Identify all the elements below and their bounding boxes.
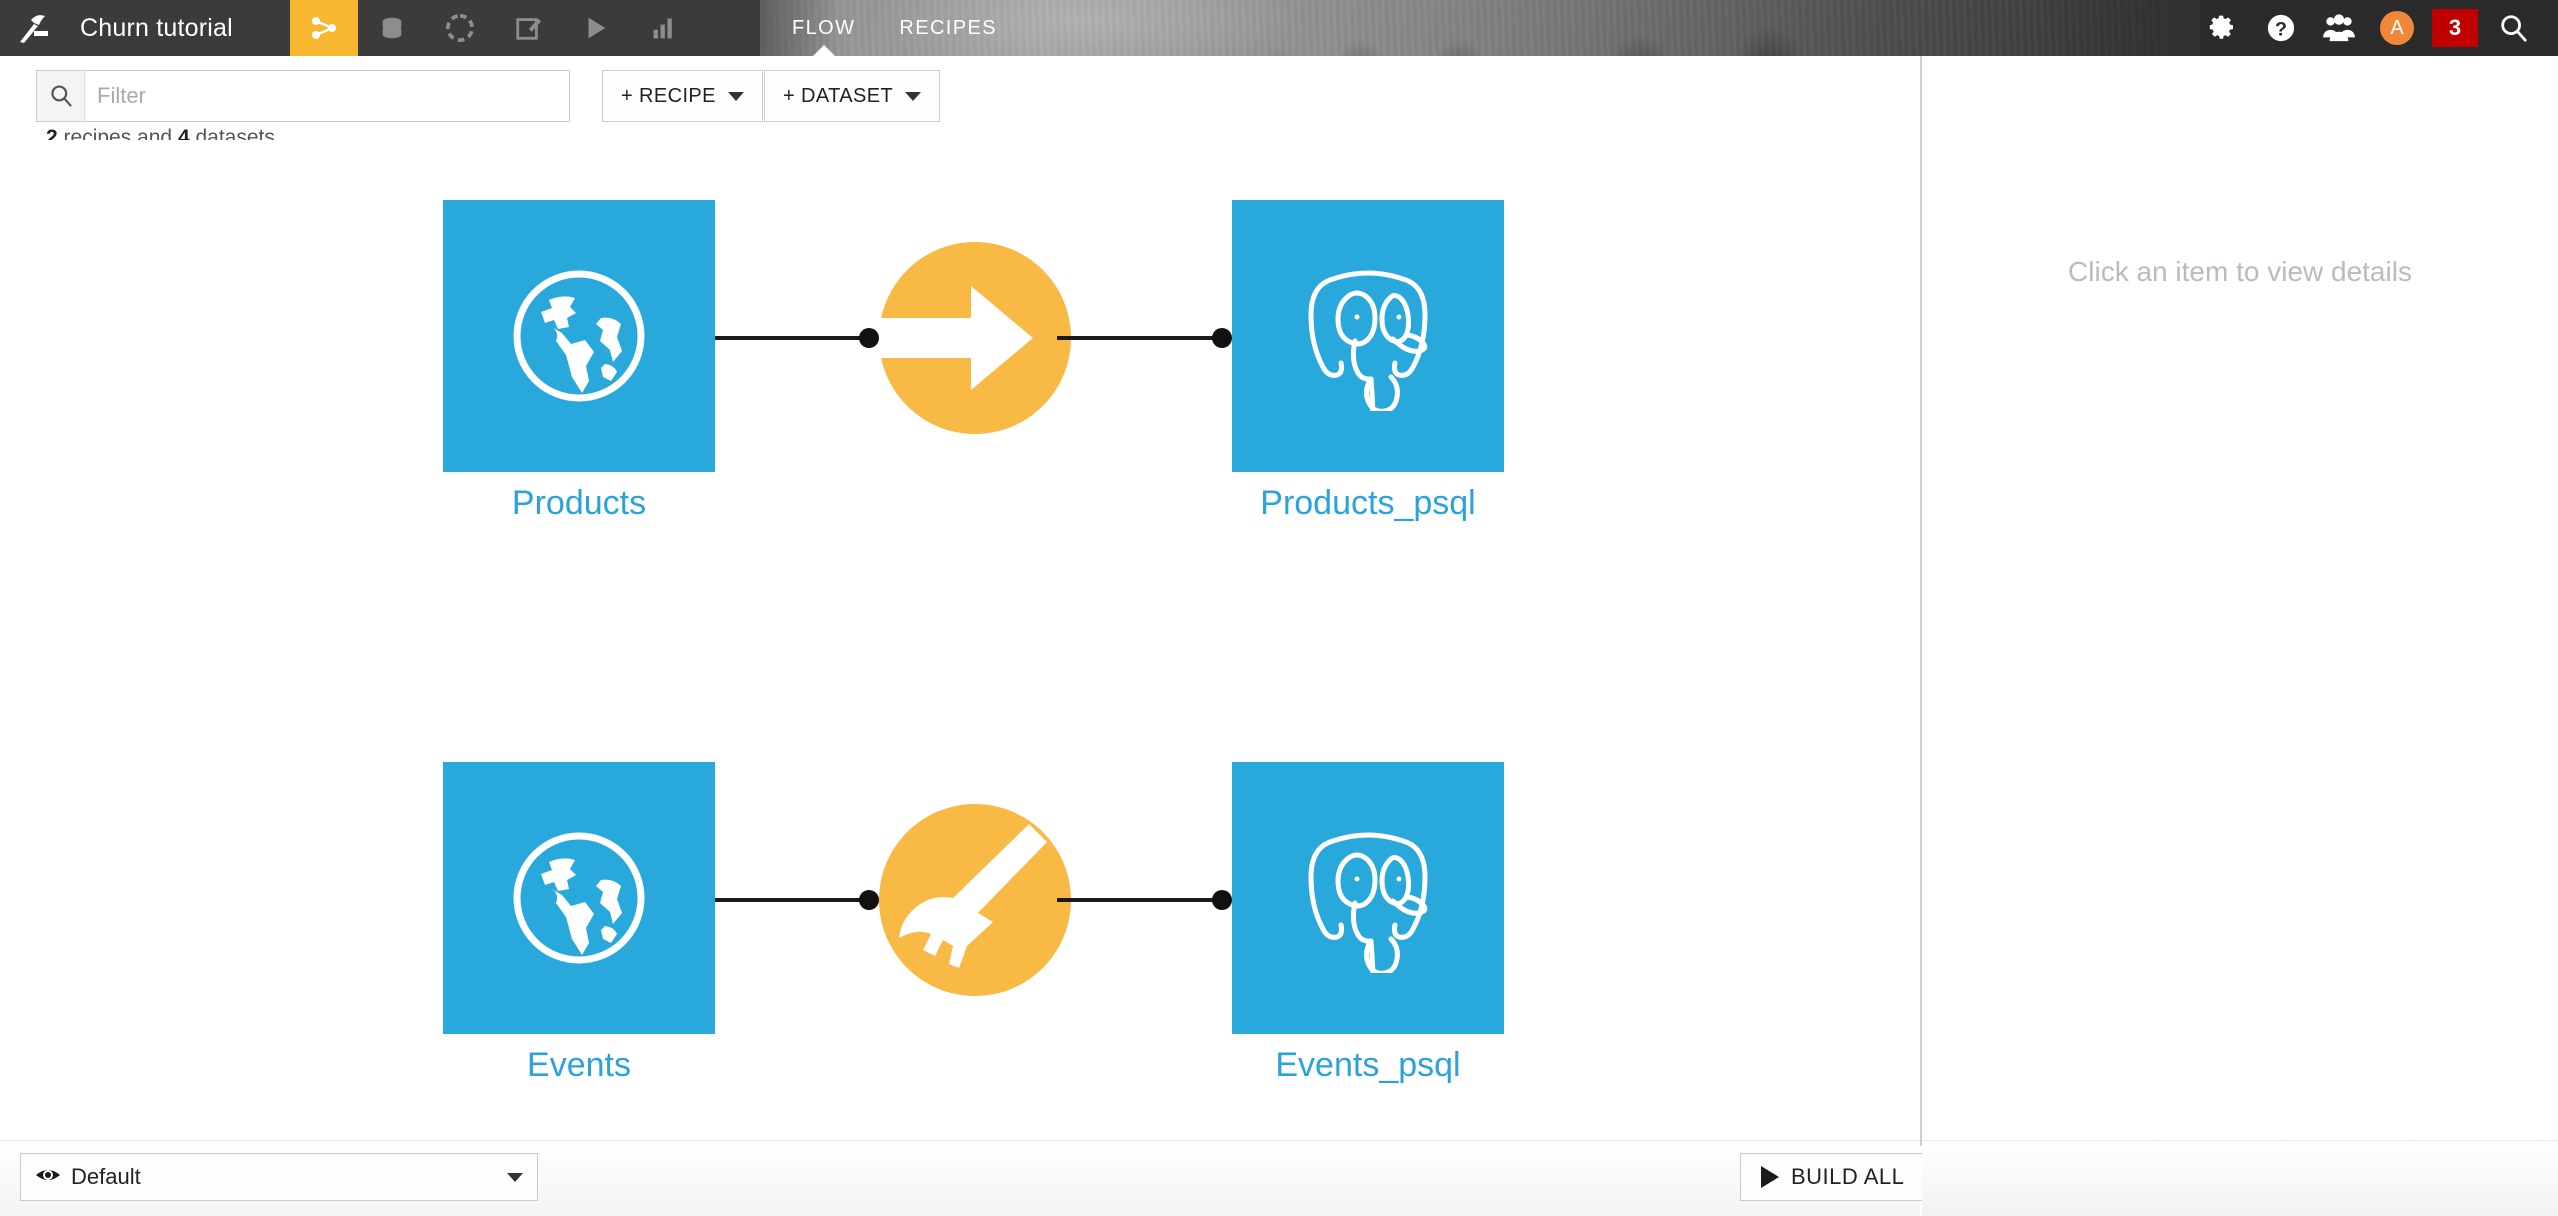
flow-edge-dot <box>859 328 879 348</box>
nav-charts-icon[interactable] <box>630 0 698 56</box>
flow-edge <box>715 898 875 902</box>
details-placeholder-text: Click an item to view details <box>1922 256 2558 288</box>
postgresql-elephant-icon <box>1293 261 1443 411</box>
dataset-label[interactable]: Products <box>512 484 646 523</box>
flow-toolbar: + RECIPE + DATASET <box>0 56 1920 140</box>
flow-node-events-psql[interactable]: Events_psql <box>1232 762 1504 1034</box>
build-all-label: BUILD ALL <box>1791 1164 1904 1190</box>
add-recipe-button[interactable]: + RECIPE <box>602 70 763 122</box>
svg-text:?: ? <box>2275 19 2287 41</box>
dataset-box[interactable] <box>1232 200 1504 472</box>
top-header-bar: Churn tutorial <box>0 0 2558 56</box>
header-tabs: FLOW RECIPES <box>770 0 1019 56</box>
nav-notebooks-icon[interactable] <box>494 0 562 56</box>
flow-node-sync-recipe[interactable] <box>879 242 1071 434</box>
search-input[interactable] <box>85 71 569 121</box>
chevron-down-icon <box>905 92 921 101</box>
chevron-down-icon <box>507 1173 523 1182</box>
sync-arrow-icon <box>879 242 1071 434</box>
header-nav-icons <box>290 0 698 56</box>
notification-badge[interactable]: 3 <box>2426 0 2484 56</box>
postgresql-elephant-icon <box>1293 823 1443 973</box>
flow-edge <box>1057 898 1217 902</box>
header-right-actions: ? A 3 <box>2194 0 2542 56</box>
globe-icon <box>509 828 649 968</box>
nav-flow-icon[interactable] <box>290 0 358 56</box>
project-title[interactable]: Churn tutorial <box>80 0 233 56</box>
zone-select[interactable]: Default <box>20 1153 538 1201</box>
add-dataset-label: + DATASET <box>783 85 893 108</box>
flow-node-products-psql[interactable]: Products_psql <box>1232 200 1504 472</box>
dataset-box[interactable] <box>1232 762 1504 1034</box>
gear-icon[interactable] <box>2194 0 2252 56</box>
broom-icon <box>879 804 1071 996</box>
flow-canvas[interactable]: Products Pro <box>0 140 1920 1086</box>
globe-icon <box>509 266 649 406</box>
flow-bottom-bar: Default BUILD ALL <box>0 1140 1920 1216</box>
dataset-label[interactable]: Events <box>527 1046 631 1085</box>
users-icon[interactable] <box>2310 0 2368 56</box>
recipe-circle[interactable] <box>879 804 1071 996</box>
chevron-down-icon <box>728 92 744 101</box>
zone-select-label: Default <box>71 1164 141 1190</box>
search-icon <box>37 71 85 121</box>
flow-edge <box>1057 336 1217 340</box>
avatar-initial: A <box>2380 11 2414 45</box>
add-recipe-label: + RECIPE <box>621 85 716 108</box>
flow-edge <box>715 336 875 340</box>
flow-edge-dot <box>1212 328 1232 348</box>
avatar[interactable]: A <box>2368 0 2426 56</box>
flow-node-prepare-recipe[interactable] <box>879 804 1071 996</box>
tab-flow[interactable]: FLOW <box>770 0 877 56</box>
recipe-circle[interactable] <box>879 242 1071 434</box>
dataset-label[interactable]: Products_psql <box>1260 484 1475 523</box>
filter-field-wrapper[interactable] <box>36 70 570 122</box>
nav-jobs-play-icon[interactable] <box>562 0 630 56</box>
bird-logo-icon[interactable] <box>14 11 50 45</box>
flow-edge-dot <box>1212 890 1232 910</box>
add-dataset-button[interactable]: + DATASET <box>764 70 940 122</box>
nav-lab-icon[interactable] <box>426 0 494 56</box>
eye-icon <box>35 1164 61 1190</box>
dataset-label[interactable]: Events_psql <box>1275 1046 1460 1085</box>
search-icon[interactable] <box>2484 0 2542 56</box>
flow-node-events[interactable]: Events <box>443 762 715 1034</box>
notification-count: 3 <box>2432 9 2478 47</box>
dataset-box[interactable] <box>443 762 715 1034</box>
flow-edge-dot <box>859 890 879 910</box>
build-all-button[interactable]: BUILD ALL <box>1740 1153 1925 1201</box>
details-panel: Click an item to view details <box>1922 56 2558 1216</box>
play-icon <box>1761 1166 1779 1188</box>
bottom-bar-right-strip <box>1922 1140 2558 1216</box>
flow-node-products[interactable]: Products <box>443 200 715 472</box>
dataset-box[interactable] <box>443 200 715 472</box>
nav-datasets-icon[interactable] <box>358 0 426 56</box>
tab-recipes[interactable]: RECIPES <box>877 0 1019 56</box>
help-icon[interactable]: ? <box>2252 0 2310 56</box>
